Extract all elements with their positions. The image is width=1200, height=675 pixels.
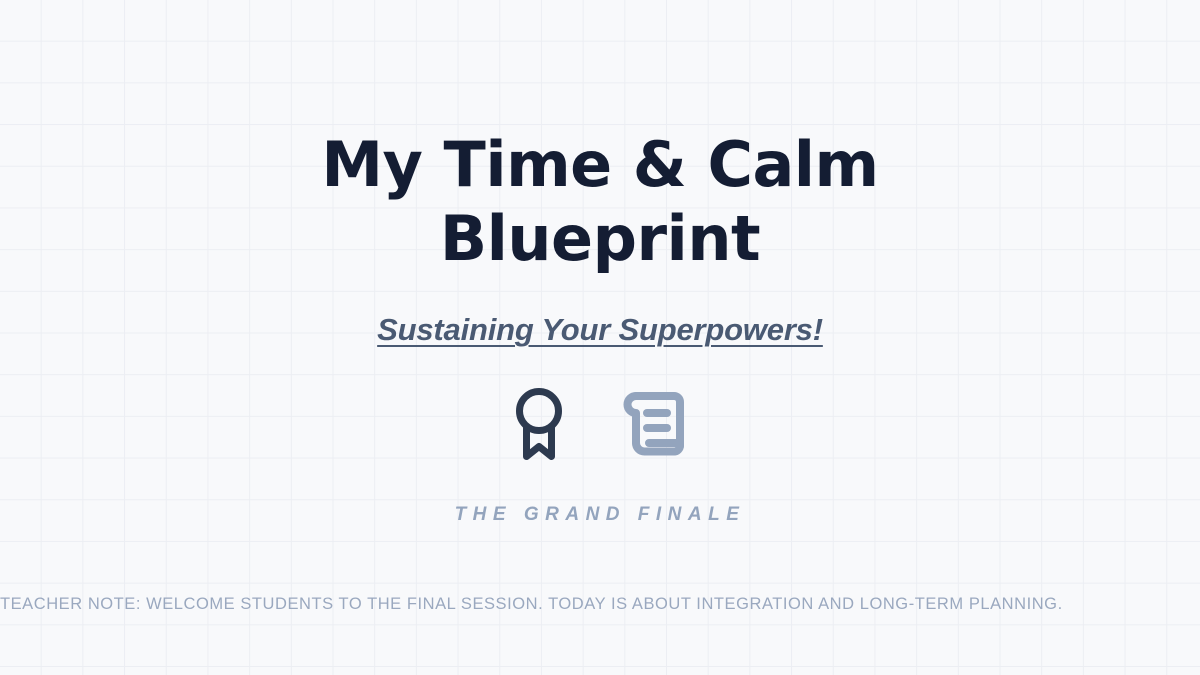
teacher-note: Teacher note: Welcome students to the fi…	[0, 592, 1090, 617]
grand-finale-eyebrow: THE GRAND FINALE	[455, 504, 746, 526]
scroll-document-icon	[614, 385, 688, 468]
slide-subtitle: Sustaining Your Superpowers!	[377, 312, 823, 347]
icon-row	[512, 386, 688, 466]
award-ribbon-icon	[512, 385, 566, 468]
subtitle-container: Sustaining Your Superpowers!	[377, 312, 823, 348]
slide-content: My Time & Calm Blueprint Sustaining Your…	[0, 0, 1200, 675]
slide-canvas: My Time & Calm Blueprint Sustaining Your…	[0, 0, 1200, 675]
page-title: My Time & Calm Blueprint	[280, 0, 920, 276]
